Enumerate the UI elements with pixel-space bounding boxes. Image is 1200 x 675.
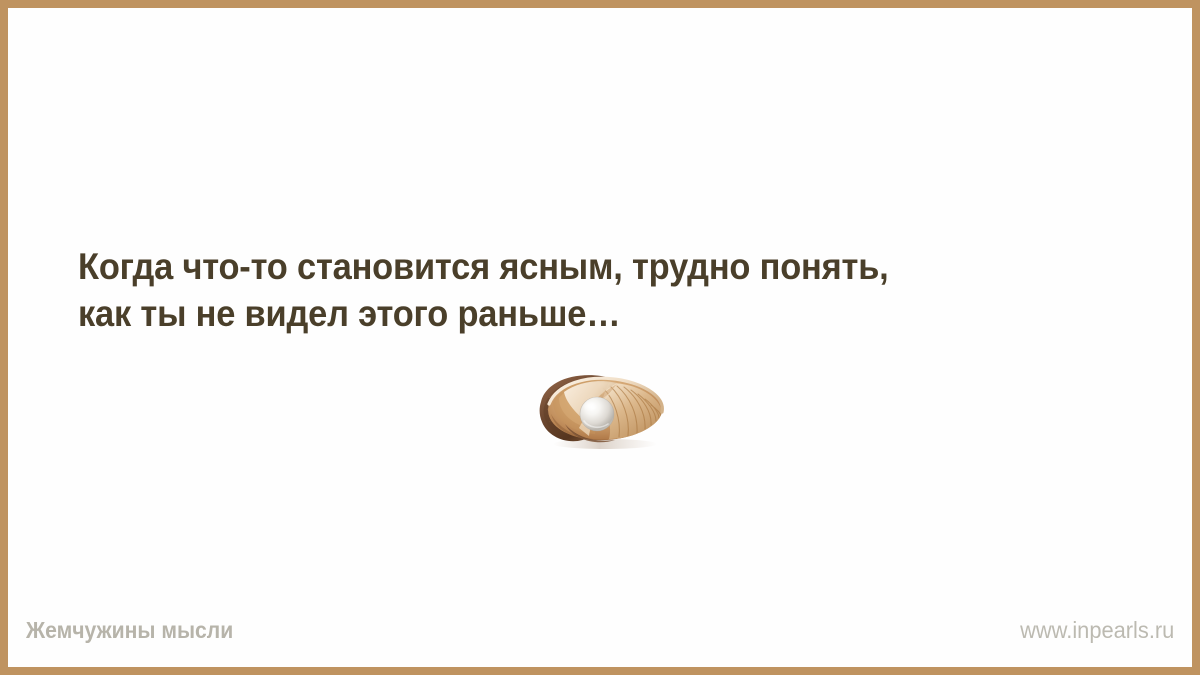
footer: Жемчужины мысли www.inpearls.ru	[8, 615, 1192, 645]
quote-text: Когда что-то становится ясным, трудно по…	[78, 243, 1148, 337]
seashell-with-pearl-icon	[535, 368, 675, 450]
pearl	[580, 397, 614, 431]
quote-line-2: как ты не видел этого раньше…	[78, 290, 1073, 337]
quote-card: Когда что-то становится ясным, трудно по…	[0, 0, 1200, 675]
footer-brand: Жемчужины мысли	[26, 615, 233, 645]
footer-site-url[interactable]: www.inpearls.ru	[1020, 615, 1174, 645]
quote-line-1: Когда что-то становится ясным, трудно по…	[78, 243, 1073, 290]
